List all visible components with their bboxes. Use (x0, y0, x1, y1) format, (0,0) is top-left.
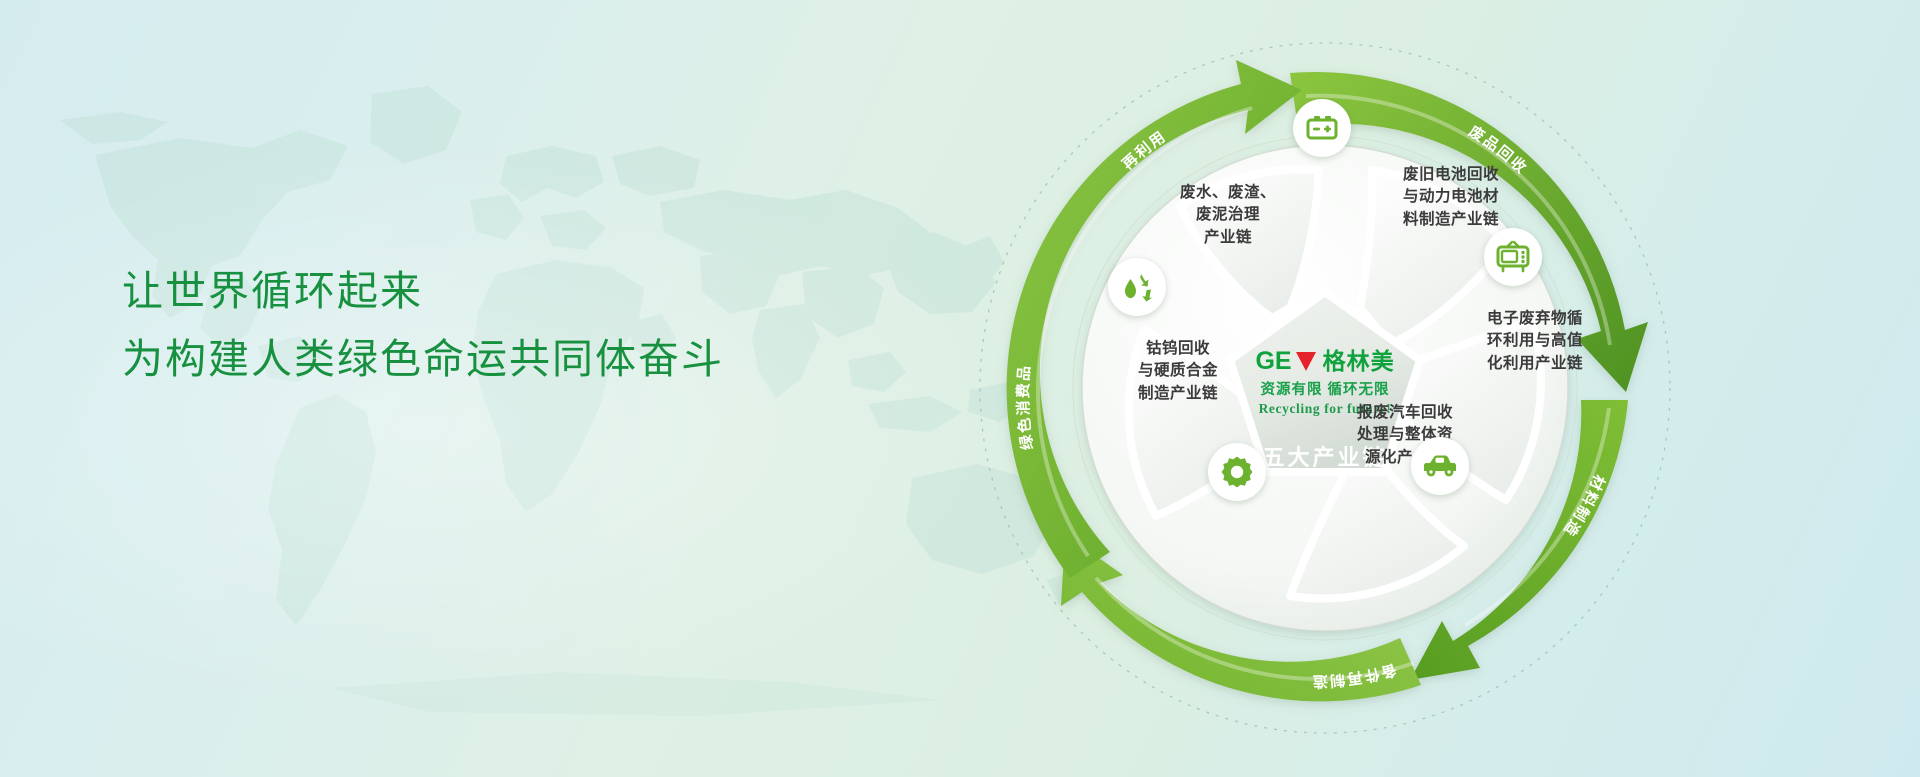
page-title: 让世界循环起来 为构建人类绿色命运共同体奋斗 (122, 262, 724, 388)
gear-icon (1220, 455, 1254, 489)
recycle-droplet-icon-bubble[interactable] (1108, 258, 1166, 316)
car-icon-bubble[interactable] (1411, 437, 1469, 495)
center-title: 五大产业链 (1262, 440, 1387, 472)
logo-wordmark-row: GE 格林美 (1210, 348, 1440, 374)
hero-banner: 让世界循环起来 为构建人类绿色命运共同体奋斗 (0, 0, 1920, 777)
logo-chinese-text: 格林美 (1323, 350, 1395, 373)
headline-line-1: 让世界循环起来 (122, 262, 724, 320)
battery-icon-bubble[interactable] (1293, 99, 1351, 157)
tv-icon (1495, 240, 1531, 274)
gem-logo: GE 格林美 资源有限 循环无限 Recycling for future! (1210, 348, 1440, 417)
car-icon (1421, 453, 1459, 479)
gear-icon-bubble[interactable] (1208, 443, 1266, 501)
recycle-droplet-icon (1119, 270, 1155, 304)
logo-slogan-en: Recycling for future! (1210, 401, 1440, 417)
tv-icon-bubble[interactable] (1484, 228, 1542, 286)
logo-slogan-cn: 资源有限 循环无限 (1210, 378, 1440, 399)
logo-latin-text: GE (1255, 349, 1291, 374)
headline-line-2: 为构建人类绿色命运共同体奋斗 (122, 330, 724, 388)
logo-triangle-mark (1296, 352, 1316, 371)
five-industry-chain-diagram: 废品回收 材料制造 备件再制造 绿色消费品 再利用 (820, 0, 1830, 777)
battery-icon (1305, 111, 1339, 145)
